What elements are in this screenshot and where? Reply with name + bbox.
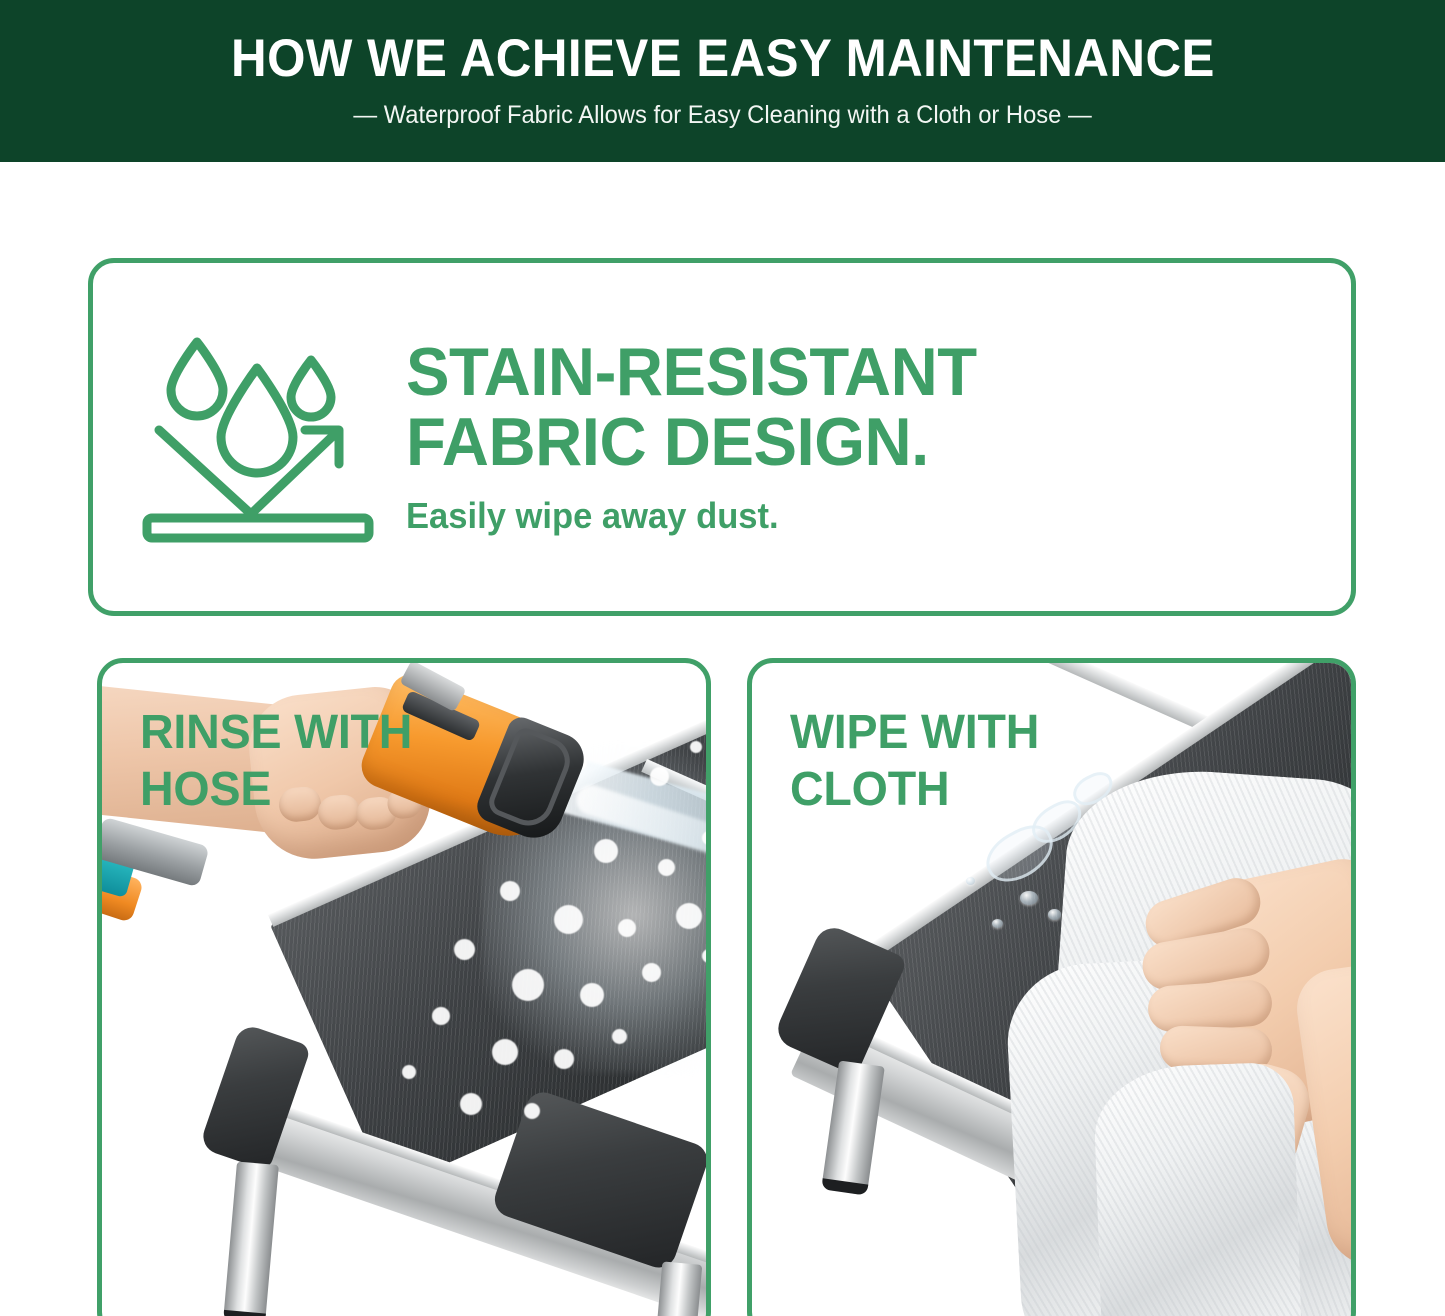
cleaning-cloth-over-fingers	[1092, 1062, 1303, 1316]
water-droplet	[614, 729, 624, 739]
water-droplet	[580, 983, 604, 1007]
water-droplet	[554, 1049, 574, 1069]
water-repellent-icon	[141, 330, 376, 545]
page-subtitle: — Waterproof Fabric Allows for Easy Clea…	[353, 101, 1091, 130]
water-droplet	[432, 1007, 450, 1025]
infographic-page: HOW WE ACHIEVE EASY MAINTENANCE — Waterp…	[0, 0, 1445, 1316]
stain-resistant-subheading: Easily wipe away dust.	[406, 495, 1313, 537]
knuckle	[316, 793, 361, 831]
wipe-with-cloth-photo	[752, 663, 1351, 1316]
water-droplet	[658, 859, 675, 876]
header-banner: HOW WE ACHIEVE EASY MAINTENANCE — Waterp…	[0, 0, 1445, 162]
water-droplet	[512, 969, 544, 1001]
water-droplet	[554, 905, 583, 934]
finger	[1147, 979, 1274, 1034]
water-bead	[992, 919, 1003, 928]
stain-resistant-heading-line2: FABRIC DESIGN.	[406, 407, 1313, 477]
water-droplet	[454, 939, 475, 960]
water-droplet	[492, 1039, 518, 1065]
water-droplet	[402, 1065, 416, 1079]
water-bead	[1020, 891, 1038, 905]
water-droplet	[650, 767, 669, 786]
water-droplet	[690, 741, 702, 753]
water-droplet	[500, 881, 520, 901]
cot-leg-foot-front	[223, 1310, 266, 1316]
water-droplet	[676, 903, 702, 929]
water-bead	[1048, 909, 1061, 920]
water-droplet	[612, 1029, 627, 1044]
cot-leg-front	[223, 1161, 279, 1316]
water-droplet	[642, 963, 661, 982]
rinse-with-hose-photo	[102, 663, 706, 1316]
page-title: HOW WE ACHIEVE EASY MAINTENANCE	[231, 32, 1215, 86]
water-droplet	[618, 919, 636, 937]
knuckle	[277, 785, 322, 823]
water-droplet	[460, 1093, 482, 1115]
rinse-with-hose-card: RINSE WITH HOSE	[97, 658, 711, 1316]
cot-leg-rear	[654, 1261, 703, 1316]
water-bead	[966, 877, 975, 885]
stain-resistant-heading-line1: STAIN-RESISTANT	[406, 337, 1313, 407]
water-droplet	[524, 1103, 540, 1119]
wipe-with-cloth-card: WIPE WITH CLOTH	[747, 658, 1356, 1316]
stain-resistant-text: STAIN-RESISTANT FABRIC DESIGN. Easily wi…	[406, 337, 1351, 537]
stain-resistant-card: STAIN-RESISTANT FABRIC DESIGN. Easily wi…	[88, 258, 1356, 616]
water-droplet	[594, 839, 618, 863]
cot-leg-foot-front	[821, 1178, 868, 1195]
